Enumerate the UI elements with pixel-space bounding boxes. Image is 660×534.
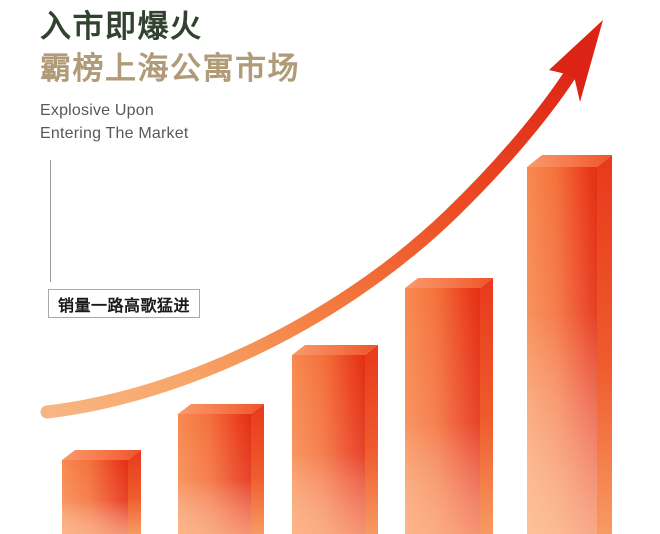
poster-root: 入市即爆火 霸榜上海公寓市场 Explosive Upon Entering T… [0, 0, 660, 534]
bar-4 [405, 278, 493, 534]
vertical-divider [50, 160, 51, 282]
bar-3 [292, 345, 378, 534]
status-badge: 销量一路高歌猛进 [48, 289, 200, 318]
subtitle-line-2: Entering The Market [40, 123, 460, 146]
bar-1 [62, 450, 141, 534]
headline-block: 入市即爆火 霸榜上海公寓市场 Explosive Upon Entering T… [40, 8, 460, 146]
subtitle-english: Explosive Upon Entering The Market [40, 100, 460, 145]
page-title-secondary: 霸榜上海公寓市场 [40, 50, 460, 90]
bar-2 [178, 404, 264, 534]
callout-label: 销量一路高歌猛进 [58, 292, 190, 316]
subtitle-line-1: Explosive Upon [40, 100, 460, 123]
bar-5 [527, 155, 612, 534]
page-title-primary: 入市即爆火 [40, 8, 460, 48]
